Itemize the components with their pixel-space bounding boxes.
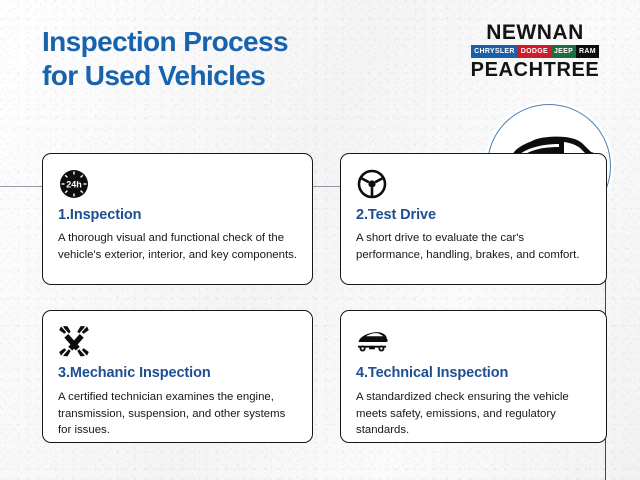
step-card-inspection: 24h 1.Inspection A thorough visual and f…	[42, 153, 313, 285]
brand-chip-ram: RAM	[576, 45, 599, 58]
steering-wheel-icon	[356, 168, 388, 200]
logo-top-text: NEWNAN	[460, 22, 610, 43]
page-title-line-1: Inspection Process	[42, 26, 288, 57]
page-title: Inspection Process for Used Vehicles	[42, 25, 402, 93]
card-body-text: A certified technician examines the engi…	[58, 389, 300, 439]
page-title-line-2: for Used Vehicles	[42, 59, 402, 93]
logo-brand-bar: CHRYSLER DODGE JEEP RAM	[460, 45, 610, 58]
step-card-mechanic-inspection: 3.Mechanic Inspection A certified techni…	[42, 310, 313, 443]
clock-24h-icon: 24h	[58, 168, 90, 200]
step-card-technical-inspection: 4.Technical Inspection A standardized ch…	[340, 310, 607, 443]
card-body-text: A thorough visual and functional check o…	[58, 230, 300, 263]
card-body-text: A standardized check ensuring the vehicl…	[356, 389, 594, 439]
infographic-canvas: Inspection Process for Used Vehicles NEW…	[0, 0, 640, 480]
dealership-logo: NEWNAN CHRYSLER DODGE JEEP RAM PEACHTREE	[460, 22, 610, 80]
card-heading: 4.Technical Inspection	[356, 366, 596, 382]
card-heading: 1.Inspection	[58, 208, 302, 224]
brand-chip-jeep: JEEP	[551, 45, 576, 58]
card-heading: 2.Test Drive	[356, 208, 596, 224]
card-heading: 3.Mechanic Inspection	[58, 366, 302, 382]
step-card-test-drive: 2.Test Drive A short drive to evaluate t…	[340, 153, 607, 285]
brand-chip-chrysler: CHRYSLER	[471, 45, 518, 58]
crossed-wrenches-icon	[58, 325, 90, 357]
brand-chip-dodge: DODGE	[518, 45, 551, 58]
logo-bottom-text: PEACHTREE	[460, 60, 610, 80]
car-chassis-icon	[356, 325, 388, 357]
card-body-text: A short drive to evaluate the car's perf…	[356, 230, 594, 263]
svg-text:24h: 24h	[66, 179, 82, 189]
